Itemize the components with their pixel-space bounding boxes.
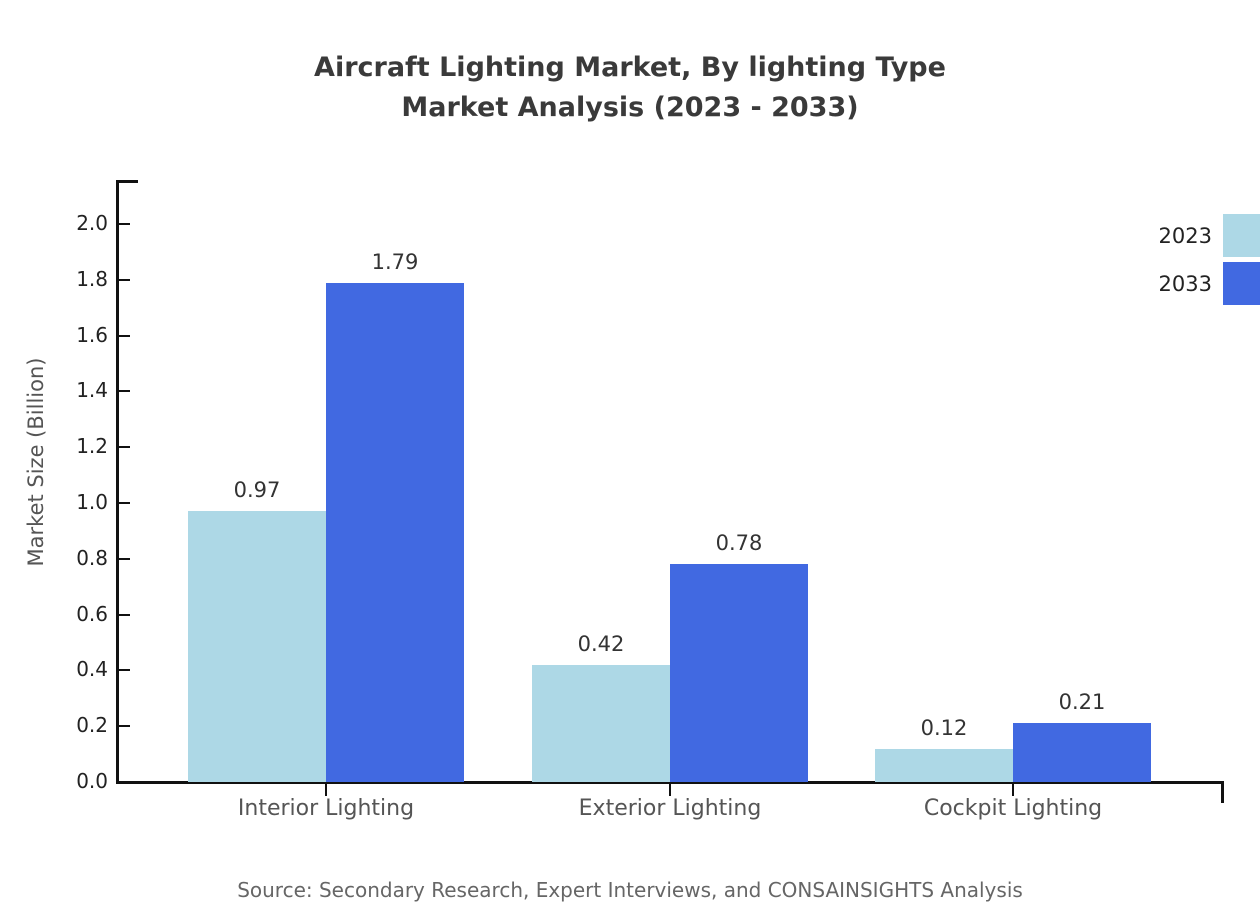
bar-cockpit-lighting-2033[interactable] bbox=[1013, 723, 1151, 782]
chart-title-line-2: Market Analysis (2023 - 2033) bbox=[0, 88, 1260, 128]
legend-swatch bbox=[1223, 214, 1260, 257]
y-axis-tick bbox=[118, 279, 130, 281]
y-axis-tick bbox=[118, 614, 130, 616]
y-axis-tick-label: 0.4 bbox=[0, 659, 108, 679]
bar-value-label: 1.79 bbox=[325, 251, 465, 273]
y-axis-tick-label: 1.8 bbox=[0, 269, 108, 289]
x-axis-end-cap bbox=[1221, 781, 1224, 803]
y-axis-tick-label: 2.0 bbox=[0, 213, 108, 233]
chart-title-line-1: Aircraft Lighting Market, By lighting Ty… bbox=[0, 48, 1260, 88]
bar-value-label: 0.21 bbox=[1012, 691, 1152, 713]
legend-item-2023[interactable]: 2023 bbox=[1100, 214, 1260, 260]
y-axis-tick bbox=[118, 669, 130, 671]
x-axis-tick-label: Interior Lighting bbox=[156, 793, 496, 825]
y-axis-tick-label: 1.2 bbox=[0, 436, 108, 456]
x-axis-tick-label: Exterior Lighting bbox=[500, 793, 840, 825]
y-axis-tick-label: 0.2 bbox=[0, 715, 108, 735]
y-axis-tick bbox=[118, 335, 130, 337]
bar-interior-lighting-2023[interactable] bbox=[188, 511, 326, 782]
bar-cockpit-lighting-2023[interactable] bbox=[875, 749, 1013, 782]
legend-label: 2033 bbox=[1100, 272, 1212, 296]
legend-item-2033[interactable]: 2033 bbox=[1100, 262, 1260, 308]
bar-value-label: 0.97 bbox=[187, 479, 327, 501]
chart-legend: 20232033 bbox=[1100, 214, 1260, 308]
y-axis-tick-label: 0.0 bbox=[0, 771, 108, 791]
bar-exterior-lighting-2033[interactable] bbox=[670, 564, 808, 782]
y-axis-tick-label: 0.6 bbox=[0, 604, 108, 624]
y-axis-tick bbox=[118, 502, 130, 504]
y-axis-tick-label: 1.6 bbox=[0, 325, 108, 345]
y-axis-tick bbox=[118, 390, 130, 392]
chart-figure: Aircraft Lighting Market, By lighting Ty… bbox=[0, 0, 1260, 920]
y-axis-tick bbox=[118, 558, 130, 560]
y-axis-tick bbox=[118, 223, 130, 225]
y-axis-tick-label: 0.8 bbox=[0, 548, 108, 568]
y-axis-tick-label: 1.0 bbox=[0, 492, 108, 512]
x-axis-tick-label: Cockpit Lighting bbox=[843, 793, 1183, 825]
source-note: Source: Secondary Research, Expert Inter… bbox=[0, 876, 1260, 904]
y-axis-top-cap bbox=[116, 180, 138, 183]
y-axis-tick bbox=[118, 446, 130, 448]
bar-value-label: 0.78 bbox=[669, 532, 809, 554]
y-axis-spine bbox=[116, 180, 119, 784]
y-axis-tick bbox=[118, 725, 130, 727]
legend-swatch bbox=[1223, 262, 1260, 305]
bar-interior-lighting-2033[interactable] bbox=[326, 283, 464, 782]
y-axis-tick-label: 1.4 bbox=[0, 380, 108, 400]
chart-title: Aircraft Lighting Market, By lighting Ty… bbox=[0, 48, 1260, 128]
bar-exterior-lighting-2023[interactable] bbox=[532, 665, 670, 782]
bar-value-label: 0.12 bbox=[874, 717, 1014, 739]
legend-label: 2023 bbox=[1100, 224, 1212, 248]
y-axis-tick bbox=[118, 781, 130, 783]
bar-value-label: 0.42 bbox=[531, 633, 671, 655]
